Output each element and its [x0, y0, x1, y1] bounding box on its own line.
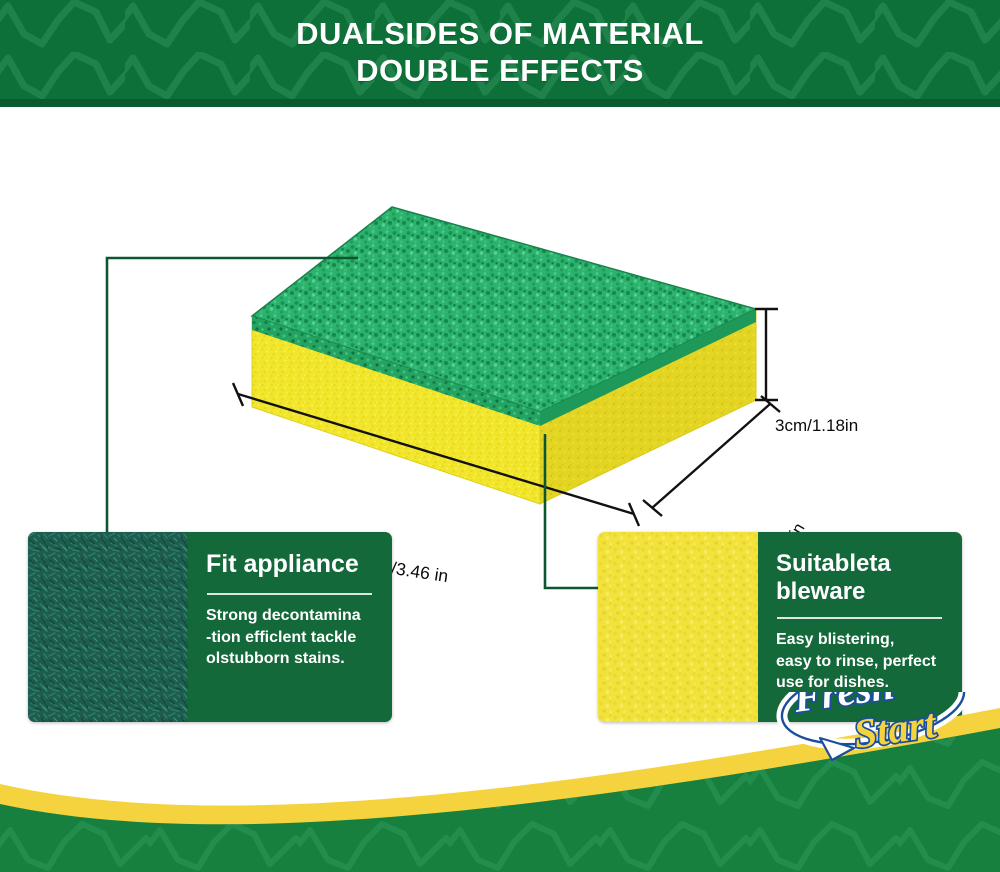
card-title-suitable-tableware: Suitableta bleware: [776, 550, 946, 606]
card-body-right: Easy blistering, easy to rinse, perfect …: [776, 629, 946, 694]
footer-banner: Fresh Start: [0, 692, 1000, 872]
header-title-line-2: DOUBLE EFFECTS: [356, 52, 644, 89]
card-divider-left: [207, 593, 372, 595]
card-body-line-2: -tion efficlent tackle: [206, 627, 376, 649]
card-title-line-1: Suitableta: [776, 550, 946, 578]
header-banner: DUALSIDES OF MATERIAL DOUBLE EFFECTS: [0, 0, 1000, 107]
card-title-line-2: bleware: [776, 578, 946, 606]
card-body-line-1: Strong decontamina: [206, 605, 376, 627]
sponge-3d-illustration: [0, 104, 1000, 534]
product-figure: 3cm/1.18in 8.8 cm/3.46 in 6 cm/2.36 in: [0, 104, 1000, 534]
header-title-line-1: DUALSIDES OF MATERIAL: [296, 15, 704, 52]
dimension-label-height: 3cm/1.18in: [775, 416, 858, 436]
card-body-line-3: olstubborn stains.: [206, 648, 376, 670]
fresh-start-logo: Fresh Start: [768, 692, 983, 768]
card-body-line-3: use for dishes.: [776, 672, 946, 694]
card-body-line-2: easy to rinse, perfect: [776, 651, 946, 673]
header-title-block: DUALSIDES OF MATERIAL DOUBLE EFFECTS: [0, 0, 1000, 104]
card-divider-right: [777, 617, 942, 619]
card-body-line-1: Easy blistering,: [776, 629, 946, 651]
card-body-left: Strong decontamina -tion efficlent tackl…: [206, 605, 376, 670]
infographic-root: DUALSIDES OF MATERIAL DOUBLE EFFECTS: [0, 0, 1000, 872]
card-title-fit-appliance: Fit appliance: [206, 550, 376, 579]
